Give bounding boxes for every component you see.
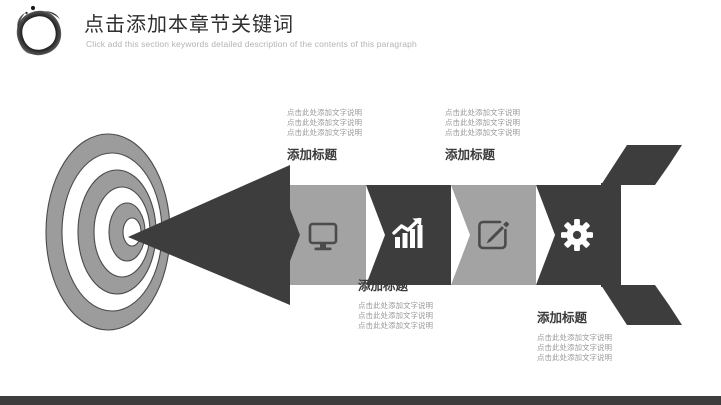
- slide-canvas: 点击添加本章节关键词 Click add this section keywor…: [0, 0, 721, 405]
- footer-bar: [0, 396, 721, 405]
- callout-3-body: 点击此处添加文字说明 点击此处添加文字说明 点击此处添加文字说明: [358, 301, 538, 331]
- callout-1[interactable]: 点击此处添加文字说明 点击此处添加文字说明 点击此处添加文字说明 添加标题: [287, 108, 467, 163]
- callout-3-title: 添加标题: [358, 278, 538, 294]
- callout-1-title: 添加标题: [287, 147, 467, 163]
- page-title: 点击添加本章节关键词: [84, 12, 294, 36]
- callout-2-title: 添加标题: [445, 147, 625, 163]
- callout-1-body: 点击此处添加文字说明 点击此处添加文字说明 点击此处添加文字说明: [287, 108, 467, 138]
- page-subtitle: Click add this section keywords detailed…: [86, 39, 417, 50]
- callout-3[interactable]: 添加标题 点击此处添加文字说明 点击此处添加文字说明 点击此处添加文字说明: [358, 278, 538, 331]
- callout-4-title: 添加标题: [537, 310, 717, 326]
- ink-brush-circle-icon: [6, 2, 78, 62]
- callout-4[interactable]: 添加标题 点击此处添加文字说明 点击此处添加文字说明 点击此处添加文字说明: [537, 310, 717, 363]
- arrow-fletching: [601, 145, 682, 325]
- callout-2-body: 点击此处添加文字说明 点击此处添加文字说明 点击此处添加文字说明: [445, 108, 625, 138]
- callout-2[interactable]: 点击此处添加文字说明 点击此处添加文字说明 点击此处添加文字说明 添加标题: [445, 108, 625, 163]
- segment-2[interactable]: [366, 185, 451, 285]
- callout-4-body: 点击此处添加文字说明 点击此处添加文字说明 点击此处添加文字说明: [537, 333, 717, 363]
